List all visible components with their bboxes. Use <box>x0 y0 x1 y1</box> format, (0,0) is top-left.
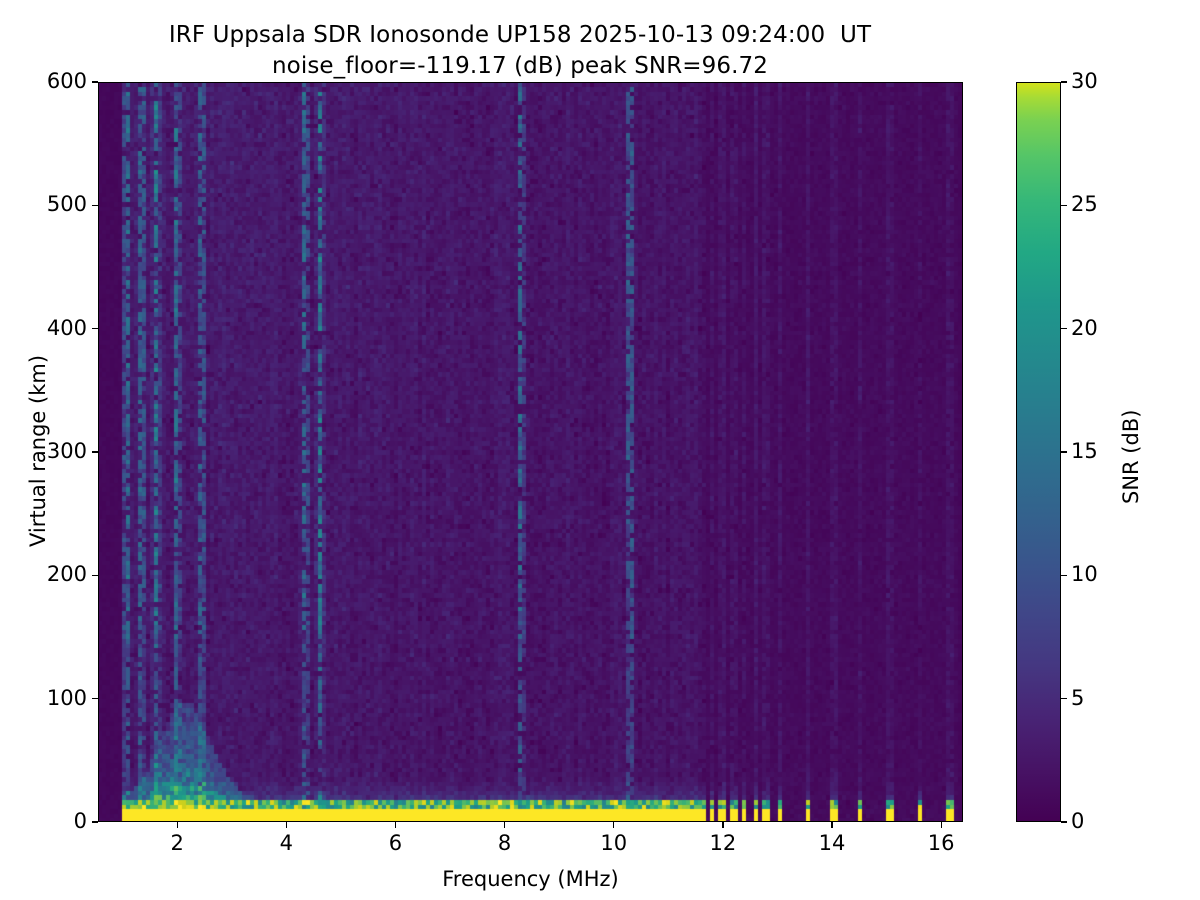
x-tick-label: 6 <box>355 833 435 854</box>
x-tick-mark <box>504 822 505 828</box>
y-tick-mark <box>92 451 98 452</box>
colorbar-tick-label: 10 <box>1071 564 1098 585</box>
figure-title: IRF Uppsala SDR Ionosonde UP158 2025-10-… <box>0 20 1040 82</box>
x-tick-mark <box>831 822 832 828</box>
colorbar-tick-label: 0 <box>1071 811 1084 832</box>
y-tick-label: 600 <box>47 71 87 92</box>
x-tick-mark <box>941 822 942 828</box>
y-tick-label: 400 <box>47 318 87 339</box>
x-tick-label: 16 <box>901 833 981 854</box>
colorbar <box>1016 82 1061 822</box>
x-tick-mark <box>177 822 178 828</box>
y-tick-label: 0 <box>74 811 87 832</box>
colorbar-tick-mark <box>1061 451 1067 452</box>
x-tick-label: 8 <box>465 833 545 854</box>
x-tick-label: 14 <box>792 833 872 854</box>
x-tick-mark <box>613 822 614 828</box>
y-tick-label: 100 <box>47 688 87 709</box>
y-tick-label: 200 <box>47 564 87 585</box>
x-tick-label: 12 <box>683 833 763 854</box>
x-tick-label: 2 <box>137 833 217 854</box>
figure-title-line-2: noise_floor=-119.17 (dB) peak SNR=96.72 <box>0 51 1040 82</box>
heatmap-canvas <box>98 82 963 822</box>
y-tick-mark <box>92 821 98 822</box>
colorbar-tick-mark <box>1061 821 1067 822</box>
x-tick-mark <box>722 822 723 828</box>
x-tick-label: 4 <box>246 833 326 854</box>
ionogram-figure: IRF Uppsala SDR Ionosonde UP158 2025-10-… <box>0 0 1200 900</box>
x-tick-label: 10 <box>574 833 654 854</box>
x-axis-title: Frequency (MHz) <box>98 867 963 891</box>
colorbar-tick-label: 25 <box>1071 194 1098 215</box>
y-tick-label: 300 <box>47 441 87 462</box>
y-tick-mark <box>92 698 98 699</box>
colorbar-tick-mark <box>1061 698 1067 699</box>
y-tick-mark <box>92 205 98 206</box>
colorbar-tick-mark <box>1061 205 1067 206</box>
colorbar-tick-label: 20 <box>1071 318 1098 339</box>
x-tick-mark <box>286 822 287 828</box>
colorbar-tick-mark <box>1061 575 1067 576</box>
ionogram-heatmap <box>98 82 963 822</box>
figure-title-line-1: IRF Uppsala SDR Ionosonde UP158 2025-10-… <box>0 20 1040 51</box>
colorbar-tick-label: 15 <box>1071 441 1098 462</box>
colorbar-tick-mark <box>1061 328 1067 329</box>
y-tick-mark <box>92 575 98 576</box>
colorbar-title: SNR (dB) <box>1119 410 1143 504</box>
x-tick-mark <box>395 822 396 828</box>
y-tick-mark <box>92 328 98 329</box>
colorbar-tick-label: 30 <box>1071 71 1098 92</box>
y-tick-label: 500 <box>47 194 87 215</box>
colorbar-tick-mark <box>1061 81 1067 82</box>
colorbar-tick-label: 5 <box>1071 688 1084 709</box>
y-tick-mark <box>92 81 98 82</box>
